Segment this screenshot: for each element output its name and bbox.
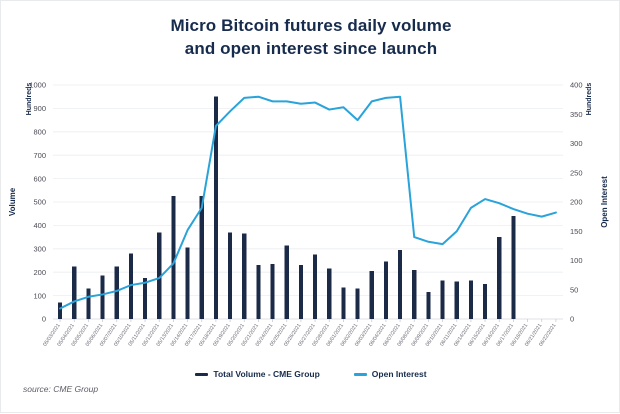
y-axis-left-tick-label: 200 bbox=[33, 268, 46, 277]
y-axis-left-tick-label: 0 bbox=[42, 315, 46, 324]
bar bbox=[115, 266, 119, 319]
y-axis-left-tick-label: 300 bbox=[33, 245, 46, 254]
y-axis-left-tick-label: 100 bbox=[33, 291, 46, 300]
y-axis-right-tick-label: 200 bbox=[570, 198, 583, 207]
bar bbox=[72, 266, 76, 319]
source-note: source: CME Group bbox=[23, 384, 98, 394]
y-axis-left-title: Volume bbox=[8, 187, 17, 216]
bar bbox=[256, 265, 260, 319]
bar bbox=[398, 250, 402, 319]
bar bbox=[341, 287, 345, 319]
bar bbox=[327, 269, 331, 319]
y-axis-left-tick-label: 600 bbox=[33, 174, 46, 183]
y-axis-right-tick-label: 0 bbox=[570, 315, 574, 324]
y-axis-right-tick-label: 350 bbox=[570, 110, 583, 119]
bar bbox=[370, 271, 374, 319]
bar bbox=[200, 196, 204, 319]
bar bbox=[86, 289, 90, 319]
bar bbox=[497, 237, 501, 319]
bar bbox=[426, 292, 430, 319]
y-axis-right-tick-label: 300 bbox=[570, 139, 583, 148]
plot-area: 01002003004005006007008009001000 0501001… bbox=[1, 1, 620, 414]
bar bbox=[285, 245, 289, 319]
bar bbox=[185, 248, 189, 319]
y-axis-left-ticks: 01002003004005006007008009001000 bbox=[29, 81, 46, 324]
legend-item-open-interest: Open Interest bbox=[354, 369, 427, 379]
y-axis-right-tick-label: 250 bbox=[570, 168, 583, 177]
y-axis-right-tick-label: 100 bbox=[570, 256, 583, 265]
bar bbox=[228, 232, 232, 319]
chart-figure: Micro Bitcoin futures daily volume and o… bbox=[0, 0, 620, 413]
y-axis-left-tick-label: 500 bbox=[33, 198, 46, 207]
bar bbox=[270, 264, 274, 319]
bar bbox=[313, 255, 317, 319]
y-axis-right-tick-label: 50 bbox=[570, 285, 578, 294]
bar bbox=[242, 234, 246, 319]
y-axis-right-ticks: 050100150200250300350400 bbox=[570, 81, 583, 324]
open-interest-line bbox=[60, 97, 556, 309]
y-axis-left-tick-label: 900 bbox=[33, 104, 46, 113]
y-axis-right-unit: Hundreds bbox=[586, 83, 593, 116]
bar bbox=[483, 284, 487, 319]
bar bbox=[384, 262, 388, 319]
bar bbox=[299, 265, 303, 319]
bar bbox=[469, 280, 473, 319]
y-axis-left-tick-label: 700 bbox=[33, 151, 46, 160]
y-axis-left-tick-label: 400 bbox=[33, 221, 46, 230]
legend-label-total-volume: Total Volume - CME Group bbox=[213, 369, 319, 379]
open-interest-line-series bbox=[60, 97, 556, 309]
bar bbox=[455, 282, 459, 319]
bar bbox=[511, 216, 515, 319]
bar bbox=[440, 280, 444, 319]
y-axis-right-tick-label: 400 bbox=[570, 81, 583, 90]
bar bbox=[100, 276, 104, 319]
chart-legend: Total Volume - CME Group Open Interest bbox=[1, 369, 620, 379]
y-axis-left-unit: Hundreds bbox=[26, 83, 33, 116]
legend-item-total-volume: Total Volume - CME Group bbox=[195, 369, 319, 379]
y-axis-left-tick-label: 800 bbox=[33, 128, 46, 137]
bar bbox=[143, 278, 147, 319]
y-axis-right-title: Open Interest bbox=[600, 176, 609, 228]
bar bbox=[355, 289, 359, 319]
bar bbox=[58, 303, 62, 319]
y-axis-right-tick-label: 150 bbox=[570, 227, 583, 236]
x-axis-ticks: 05/03/202105/04/202105/05/202105/06/2021… bbox=[42, 319, 557, 348]
bar-series bbox=[58, 97, 516, 319]
legend-label-open-interest: Open Interest bbox=[372, 369, 427, 379]
bar bbox=[412, 270, 416, 319]
chart-svg: 01002003004005006007008009001000 0501001… bbox=[1, 1, 620, 414]
legend-swatch-line bbox=[354, 373, 367, 376]
legend-swatch-bar bbox=[195, 373, 208, 376]
